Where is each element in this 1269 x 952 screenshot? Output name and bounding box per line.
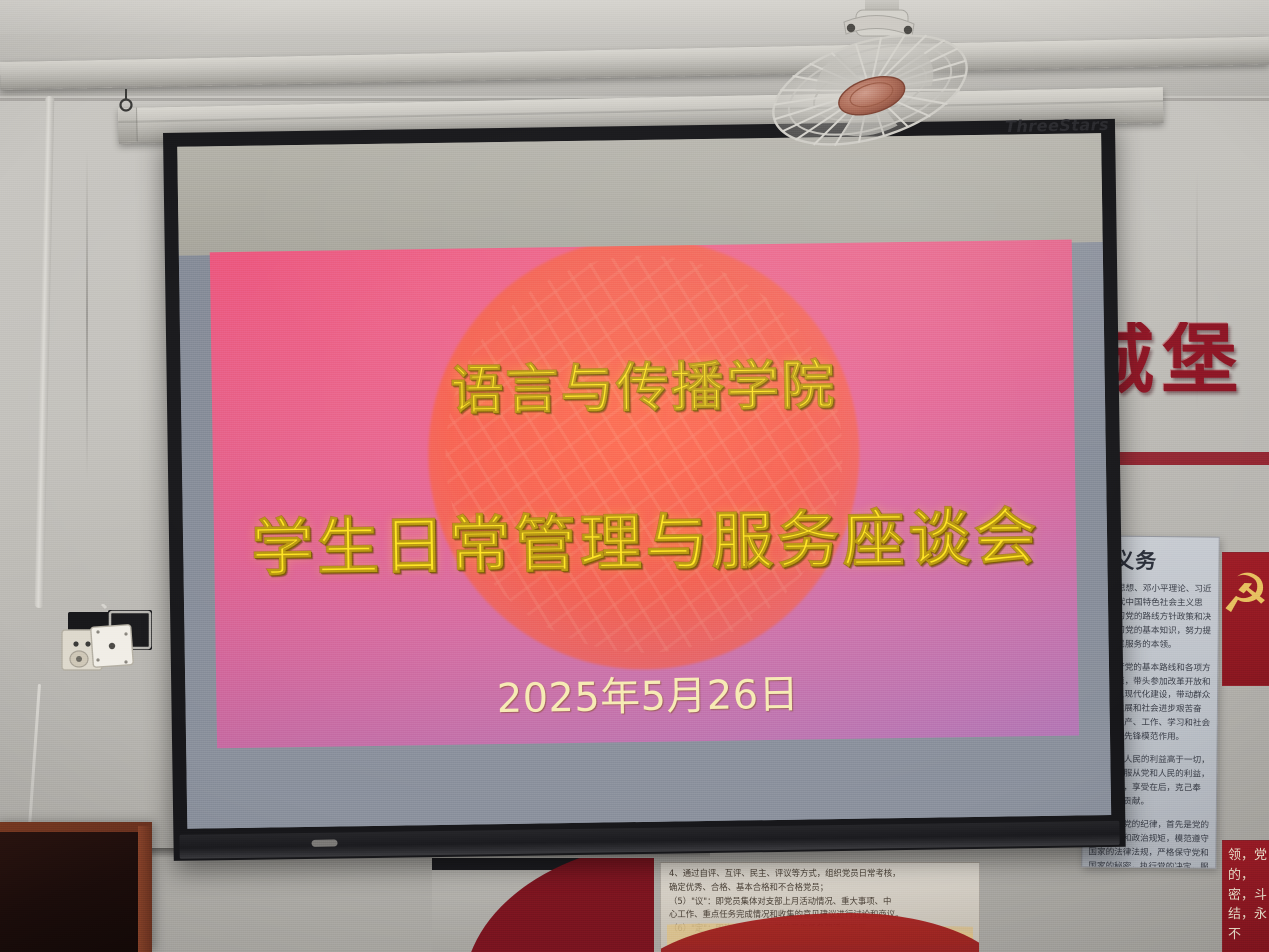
- hammer-sickle-icon: ☭: [1222, 567, 1269, 627]
- branch-meeting-poster: 4、通过自评、互评、民主、评议等方式，组织党员日常考核， 确定优秀、合格、基本合…: [660, 862, 980, 952]
- screen-surface: 语言与传播学院 学生日常管理与服务座谈会 2025年5月26日: [177, 133, 1111, 829]
- relief-char-2: 堡: [1162, 322, 1238, 398]
- wood-cabinet[interactable]: [0, 822, 152, 952]
- poster-red-curve: [464, 858, 654, 952]
- metal-hanging-hook: [118, 88, 134, 116]
- poster-oath-text: 领，党的，密，斗结，永不: [1228, 846, 1268, 945]
- projection-screen[interactable]: 语言与传播学院 学生日常管理与服务座谈会 2025年5月26日: [163, 119, 1126, 861]
- poster-line: 4、通过自评、互评、民主、评议等方式，组织党员日常考核，: [669, 867, 973, 881]
- red-curve-poster: [432, 858, 654, 952]
- wall-crack: [86, 150, 88, 480]
- classroom-photo-scene: 语言与传播学院 学生日常管理与服务座谈会 2025年5月26日: [0, 0, 1269, 952]
- screen-bar-nub: [311, 839, 337, 846]
- wall-mounted-fan: [752, 0, 1022, 167]
- screen-sheen: [177, 133, 1111, 829]
- party-emblem-poster: ☭: [1222, 552, 1269, 686]
- party-oath-poster: 领，党的，密，斗结，永不: [1222, 840, 1269, 952]
- cabinet-panel: [0, 832, 140, 952]
- poster-line: （5）"议"：即党员集体对支部上月活动情况、重大事项、中: [669, 895, 973, 909]
- cabinet-frame-edge: [138, 826, 152, 952]
- fan-mount-arm: [844, 0, 914, 36]
- damaged-wall-socket[interactable]: [52, 604, 160, 688]
- fan-cage: [760, 15, 979, 165]
- poster-line: 确定优秀、合格、基本合格和不合格党员；: [669, 881, 973, 895]
